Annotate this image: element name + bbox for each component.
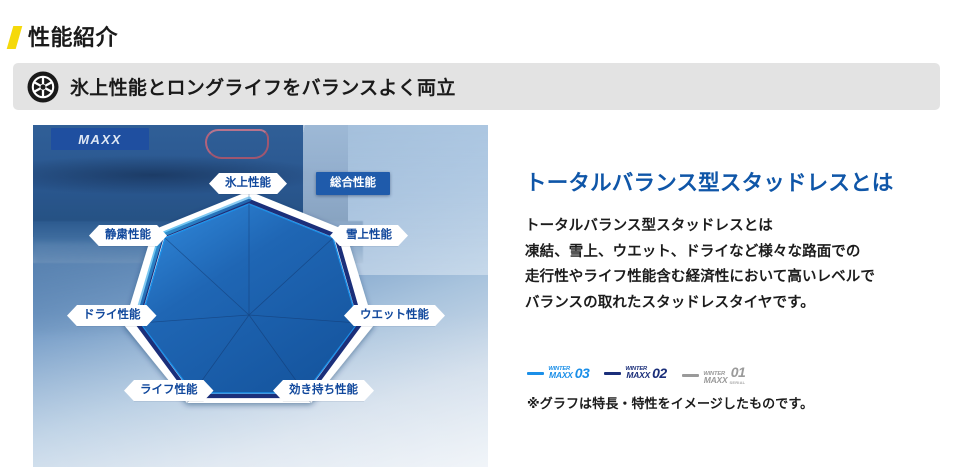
legend-brand-line1-03: WINTER bbox=[548, 367, 573, 372]
radar-chart-panel: MAXX bbox=[33, 125, 488, 467]
description-line-1: トータルバランス型スタッドレスとは bbox=[525, 214, 940, 240]
subtitle-bar: 氷上性能とロングライフをバランスよく両立 bbox=[13, 63, 940, 110]
legend-item-03: WINTER MAXX 03 bbox=[527, 367, 589, 380]
legend-logo-03: WINTER MAXX 03 bbox=[549, 367, 589, 380]
chart-note: ※グラフは特長・特性をイメージしたものです。 bbox=[527, 393, 813, 412]
page-title: 性能紹介 bbox=[28, 27, 118, 49]
subtitle-text: 氷上性能とロングライフをバランスよく両立 bbox=[70, 73, 456, 100]
legend-item-02: WINTER MAXX 02 bbox=[604, 367, 666, 380]
legend-logo-01: WINTER MAXX 01 SERIAL bbox=[704, 367, 746, 385]
legend-brand-line1-01: WINTER bbox=[703, 372, 728, 377]
radar-label-ice: 氷上性能 bbox=[209, 173, 287, 194]
legend-brand-line2-02: MAXX bbox=[626, 372, 650, 380]
section-heading: 性能紹介 bbox=[0, 12, 118, 63]
legend-logo-02: WINTER MAXX 02 bbox=[626, 367, 666, 380]
radar-label-life: ライフ性能 bbox=[124, 380, 214, 401]
legend-brand-line2-03: MAXX bbox=[549, 372, 573, 380]
legend-sub-01: SERIAL bbox=[729, 380, 745, 385]
legend-swatch-03 bbox=[527, 372, 544, 375]
content-area: MAXX bbox=[33, 125, 940, 467]
legend-item-01: WINTER MAXX 01 SERIAL bbox=[682, 367, 746, 385]
accent-slash-icon bbox=[7, 26, 23, 49]
legend-number-03: 03 bbox=[575, 368, 590, 380]
legend-brand-line2-01: MAXX bbox=[704, 377, 728, 385]
legend-brand-line1-02: WINTER bbox=[626, 367, 651, 372]
radar-label-snow: 雪上性能 bbox=[330, 225, 408, 246]
legend-swatch-02 bbox=[604, 372, 621, 375]
legend-swatch-01 bbox=[682, 374, 699, 377]
radar-label-wet: ウエット性能 bbox=[344, 305, 445, 326]
description-line-3: 走行性やライフ性能含む経済性において高いレベルで bbox=[525, 265, 940, 291]
radar-label-holding: 効き持ち性能 bbox=[273, 380, 374, 401]
description-body: トータルバランス型スタッドレスとは 凍結、雪上、ウエット、ドライなど様々な路面で… bbox=[525, 197, 940, 317]
radar-label-dry: ドライ性能 bbox=[67, 305, 157, 326]
description-heading: トータルバランス型スタッドレスとは bbox=[525, 125, 940, 197]
legend-number-02: 02 bbox=[652, 368, 667, 380]
description-line-2: 凍結、雪上、ウエット、ドライなど様々な路面での bbox=[525, 240, 940, 266]
radar-label-total: 総合性能 bbox=[316, 172, 390, 195]
description-panel: トータルバランス型スタッドレスとは トータルバランス型スタッドレスとは 凍結、雪… bbox=[525, 125, 940, 467]
radar-label-quiet: 静粛性能 bbox=[89, 225, 167, 246]
tire-icon bbox=[27, 71, 59, 103]
chart-legend: WINTER MAXX 03 WINTER MAXX 02 bbox=[527, 367, 745, 385]
description-line-4: バランスの取れたスタッドレスタイヤです。 bbox=[525, 291, 940, 317]
legend-number-01: 01 bbox=[731, 367, 746, 379]
